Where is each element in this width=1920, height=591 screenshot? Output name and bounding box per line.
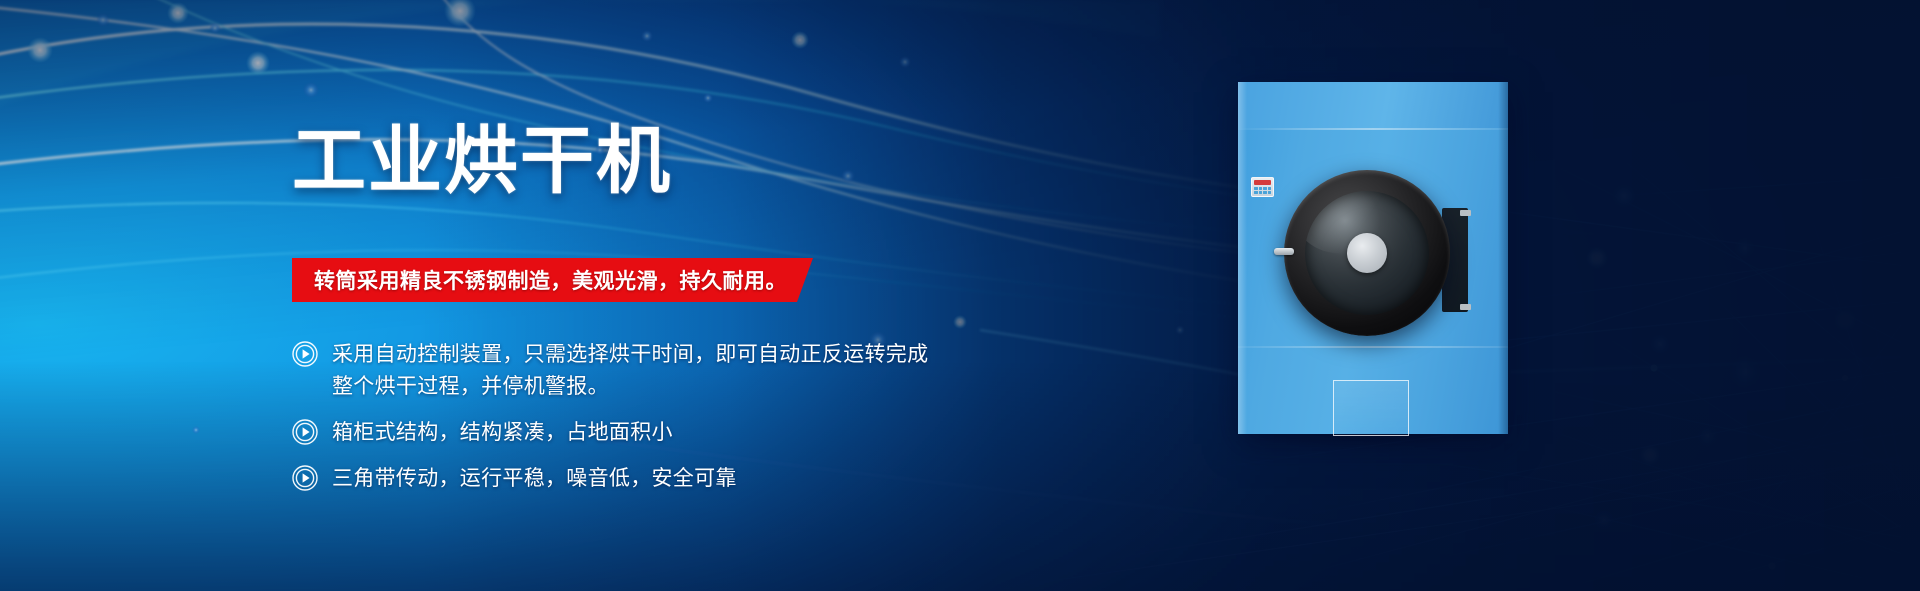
- promo-banner: 工业烘干机 转筒采用精良不锈钢制造，美观光滑，持久耐用。 采用自动控制装置，只需…: [0, 0, 1920, 591]
- feature-list: 采用自动控制装置，只需选择烘干时间，即可自动正反运转完成 整个烘干过程，并停机警…: [292, 338, 928, 494]
- drum-hub: [1347, 233, 1387, 273]
- list-item: 箱柜式结构，结构紧凑，占地面积小: [292, 416, 928, 448]
- circle-play-icon: [292, 419, 318, 445]
- list-item: 三角带传动，运行平稳，噪音低，安全可靠: [292, 462, 928, 494]
- feature-text: 采用自动控制装置，只需选择烘干时间，即可自动正反运转完成 整个烘干过程，并停机警…: [332, 338, 928, 402]
- tagline-ribbon: 转筒采用精良不锈钢制造，美观光滑，持久耐用。: [292, 258, 813, 302]
- list-item: 采用自动控制装置，只需选择烘干时间，即可自动正反运转完成 整个烘干过程，并停机警…: [292, 338, 928, 402]
- tagline-text: 转筒采用精良不锈钢制造，美观光滑，持久耐用。: [314, 265, 787, 295]
- banner-content: 工业烘干机 转筒采用精良不锈钢制造，美观光滑，持久耐用。 采用自动控制装置，只需…: [0, 0, 1920, 591]
- page-title: 工业烘干机: [292, 124, 672, 198]
- circle-play-icon: [292, 465, 318, 491]
- feature-text: 三角带传动，运行平稳，噪音低，安全可靠: [332, 462, 737, 494]
- circle-play-icon: [292, 341, 318, 367]
- feature-text: 箱柜式结构，结构紧凑，占地面积小: [332, 416, 673, 448]
